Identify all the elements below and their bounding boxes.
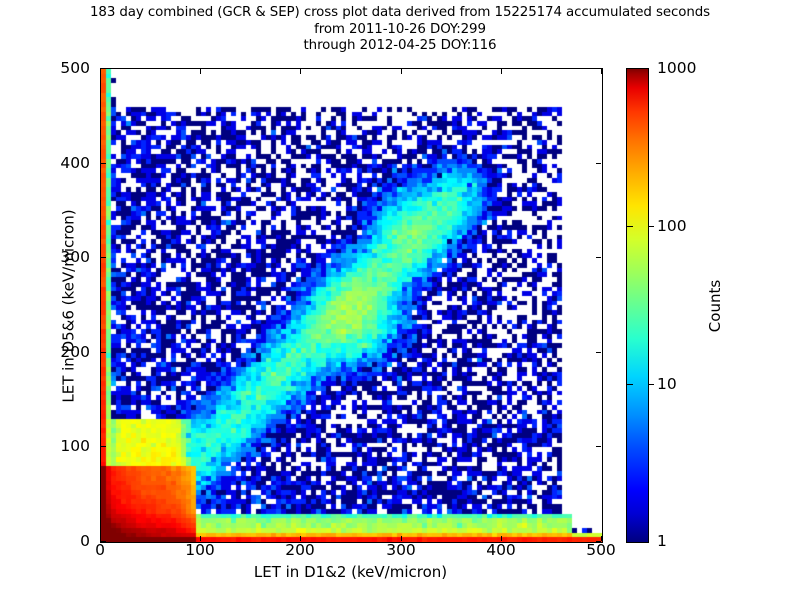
colorbar-tick-inner-100 (627, 226, 633, 227)
x-tick-top-500 (601, 69, 602, 74)
x-tick-label-100: 100 (160, 543, 240, 559)
x-tick-label-300: 300 (361, 543, 441, 559)
x-tick-top-400 (501, 69, 502, 74)
y-tick-right-100 (596, 446, 601, 447)
y-axis-title: LET in D5&6 (keV/micron) (60, 70, 78, 543)
colorbar-tick-label-1: 1 (657, 534, 667, 550)
y-tick-500 (101, 68, 106, 69)
colorbar-tick-label-10: 10 (657, 377, 677, 393)
plot-title-line-1: 183 day combined (GCR & SEP) cross plot … (0, 5, 800, 22)
y-tick-100 (101, 446, 106, 447)
x-tick-top-200 (300, 69, 301, 74)
y-tick-300 (101, 257, 106, 258)
plot-title-line-2: from 2011-10-26 DOY:299 (0, 22, 800, 39)
x-tick-top-100 (200, 69, 201, 74)
colorbar-tick-label-100: 100 (657, 219, 687, 235)
scatter-density-canvas (101, 69, 602, 542)
x-tick-top-300 (401, 69, 402, 74)
y-tick-400 (101, 163, 106, 164)
colorbar-tick-label-1000: 1000 (657, 61, 696, 77)
y-tick-200 (101, 352, 106, 353)
y-tick-right-200 (596, 352, 601, 353)
plot-axes-area (100, 68, 603, 543)
colorbar-tick-inner-10 (627, 384, 633, 385)
plot-title-line-3: through 2012-04-25 DOY:116 (0, 38, 800, 55)
plot-title: 183 day combined (GCR & SEP) cross plot … (0, 5, 800, 55)
colorbar-tick-10 (648, 384, 654, 385)
figure-canvas: 183 day combined (GCR & SEP) cross plot … (0, 0, 800, 600)
colorbar (626, 68, 649, 543)
x-tick-label-200: 200 (260, 543, 340, 559)
x-tick-label-0: 0 (60, 543, 140, 559)
colorbar-title: Counts (706, 196, 724, 416)
x-axis-title: LET in D1&2 (keV/micron) (100, 563, 601, 581)
x-tick-top-0 (100, 69, 101, 74)
y-tick-right-300 (596, 257, 601, 258)
y-tick-right-400 (596, 163, 601, 164)
colorbar-gradient (627, 69, 648, 542)
colorbar-tick-100 (648, 226, 654, 227)
x-tick-label-500: 500 (561, 543, 641, 559)
x-tick-label-400: 400 (461, 543, 541, 559)
